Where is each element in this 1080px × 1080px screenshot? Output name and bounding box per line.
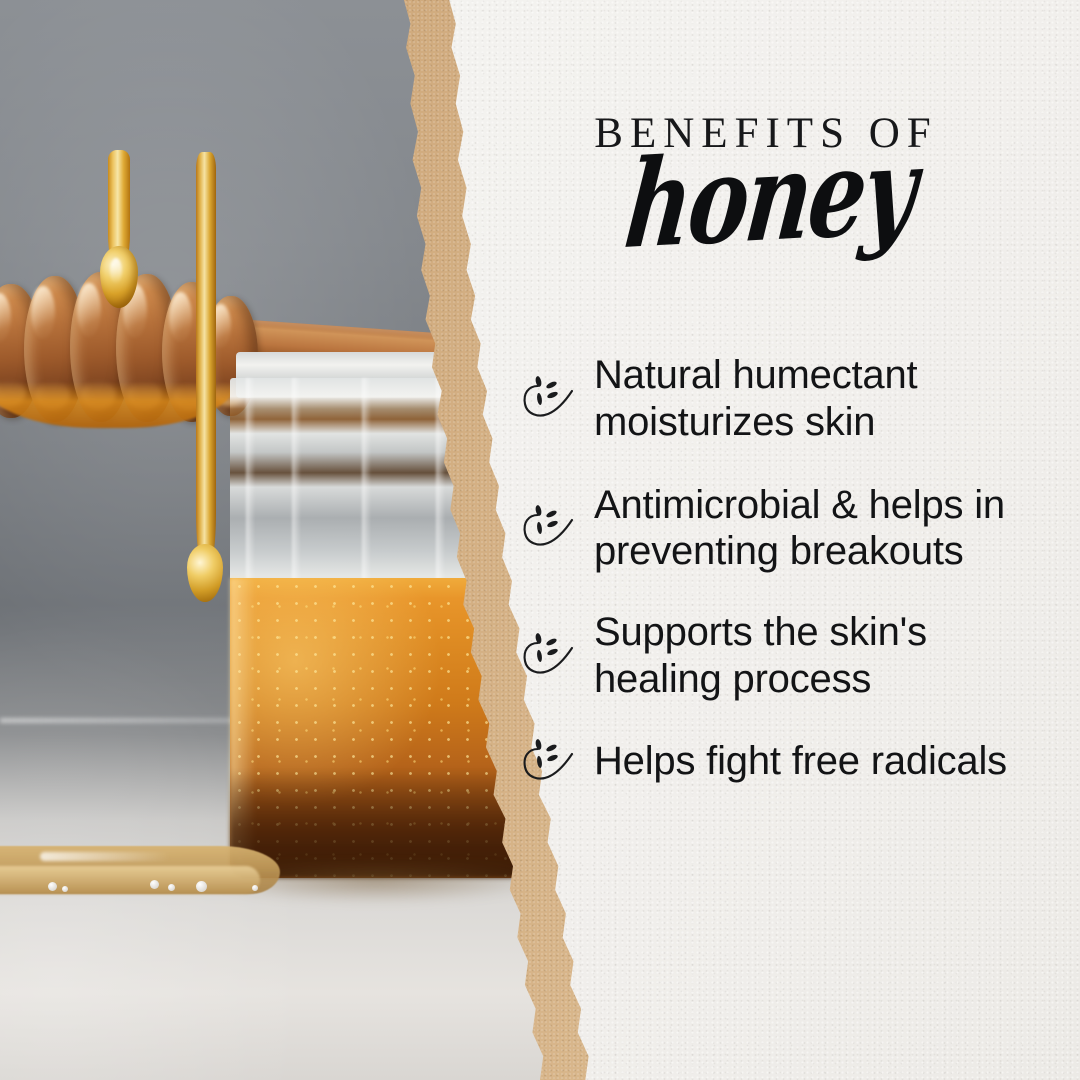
- benefits-list: Natural humectant moisturizes skin Antim…: [518, 352, 1058, 819]
- poster-canvas: BENEFITS OF honey Natural humectant mois…: [0, 0, 1080, 1080]
- page-title-script: honey: [510, 124, 1030, 271]
- list-item: Helps fight free radicals: [518, 735, 1058, 789]
- list-item: Natural humectant moisturizes skin: [518, 352, 1058, 446]
- list-item-label: Antimicrobial & helps in preventing brea…: [594, 482, 1058, 576]
- leaf-flourish-icon: [518, 735, 576, 789]
- leaf-flourish-icon: [518, 372, 576, 426]
- list-item-label: Natural humectant moisturizes skin: [594, 352, 1058, 446]
- list-item: Antimicrobial & helps in preventing brea…: [518, 482, 1058, 576]
- leaf-flourish-icon: [518, 629, 576, 683]
- list-item-label: Supports the skin's healing process: [594, 609, 1058, 703]
- list-item: Supports the skin's healing process: [518, 609, 1058, 703]
- text-panel: BENEFITS OF honey Natural humectant mois…: [500, 0, 1080, 1080]
- leaf-flourish-icon: [518, 501, 576, 555]
- list-item-label: Helps fight free radicals: [594, 738, 1007, 785]
